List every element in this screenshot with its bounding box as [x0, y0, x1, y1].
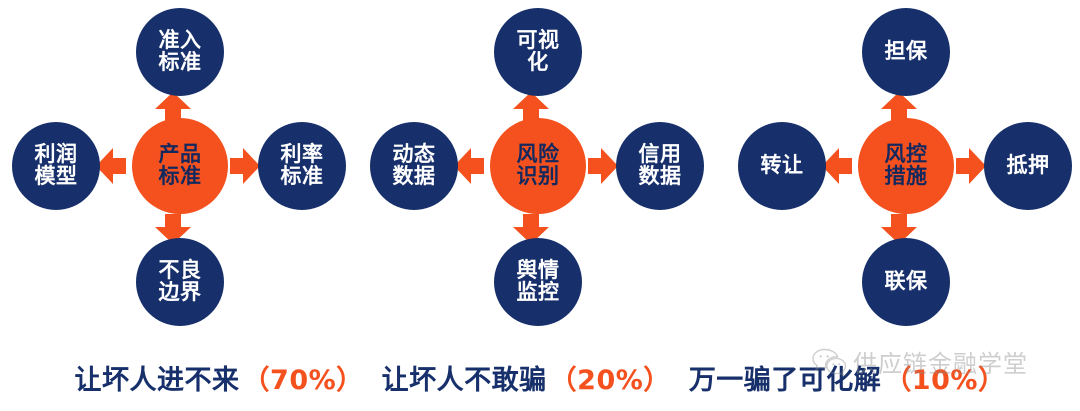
node-top[interactable]: 担保 — [862, 8, 950, 96]
diagram-group-product-standard: 准入 标准 利润 模型 产品 标准 利率 标准 不良 边界 — [0, 0, 360, 340]
node-label-line: 抵押 — [1007, 155, 1050, 177]
node-label-line: 信用 — [639, 144, 682, 166]
node-bottom[interactable]: 不良 边界 — [136, 238, 224, 326]
node-left[interactable]: 转让 — [738, 122, 826, 210]
node-center[interactable]: 产品 标准 — [132, 118, 228, 214]
caption-row: 让坏人进不来（70%） 让坏人不敢骗（20%） 万一骗了可化解（10%） — [0, 352, 1080, 402]
caption-text: 万一骗了可化解 — [689, 365, 882, 396]
node-center[interactable]: 风险 识别 — [490, 118, 586, 214]
caption-item: 让坏人进不来（70%） — [66, 358, 373, 397]
node-label-line: 舆情 — [517, 260, 560, 282]
node-bottom[interactable]: 联保 — [862, 238, 950, 326]
caption-text: 让坏人进不来 — [75, 365, 240, 396]
node-left[interactable]: 动态 数据 — [370, 122, 458, 210]
node-center[interactable]: 风控 措施 — [858, 118, 954, 214]
node-label-line: 边界 — [159, 282, 202, 304]
node-bottom[interactable]: 舆情 监控 — [494, 238, 582, 326]
node-label-line: 标准 — [159, 52, 202, 74]
caption-item: 万一骗了可化解（10%） — [680, 358, 1015, 397]
node-label-line: 数据 — [393, 166, 436, 188]
caption-item: 让坏人不敢骗（20%） — [373, 358, 680, 397]
node-label-line: 数据 — [639, 166, 682, 188]
node-label-line: 利润 — [35, 144, 78, 166]
node-label-line: 化 — [527, 52, 549, 74]
diagram-canvas: 准入 标准 利润 模型 产品 标准 利率 标准 不良 边界 — [0, 0, 1080, 411]
node-left[interactable]: 利润 模型 — [12, 122, 100, 210]
node-label-line: 产品 — [159, 144, 202, 166]
node-label-line: 风控 — [885, 144, 928, 166]
node-label-line: 不良 — [159, 260, 202, 282]
diagram-group-risk-control: 担保 转让 风控 措施 抵押 联保 — [726, 0, 1080, 340]
node-label-line: 联保 — [885, 271, 928, 293]
node-top[interactable]: 准入 标准 — [136, 8, 224, 96]
caption-text: 让坏人不敢骗 — [382, 365, 547, 396]
caption-percent: （70%） — [243, 365, 364, 396]
diagram-group-risk-identification: 可视 化 动态 数据 风险 识别 信用 数据 舆情 监控 — [358, 0, 718, 340]
node-label-line: 监控 — [517, 282, 560, 304]
node-label-line: 模型 — [35, 166, 78, 188]
node-label-line: 动态 — [393, 144, 436, 166]
node-label-line: 担保 — [885, 41, 928, 63]
node-label-line: 识别 — [517, 166, 560, 188]
node-label-line: 可视 — [517, 30, 560, 52]
node-right[interactable]: 抵押 — [984, 122, 1072, 210]
node-label-line: 准入 — [159, 30, 202, 52]
node-right[interactable]: 信用 数据 — [616, 122, 704, 210]
node-label-line: 措施 — [885, 166, 928, 188]
node-top[interactable]: 可视 化 — [494, 8, 582, 96]
node-label-line: 标准 — [159, 166, 202, 188]
caption-percent: （20%） — [550, 365, 671, 396]
node-right[interactable]: 利率 标准 — [258, 122, 346, 210]
caption-percent: （10%） — [884, 365, 1005, 396]
node-label-line: 利率 — [281, 144, 324, 166]
node-label-line: 标准 — [281, 166, 324, 188]
node-label-line: 风险 — [517, 144, 560, 166]
node-label-line: 转让 — [761, 155, 804, 177]
